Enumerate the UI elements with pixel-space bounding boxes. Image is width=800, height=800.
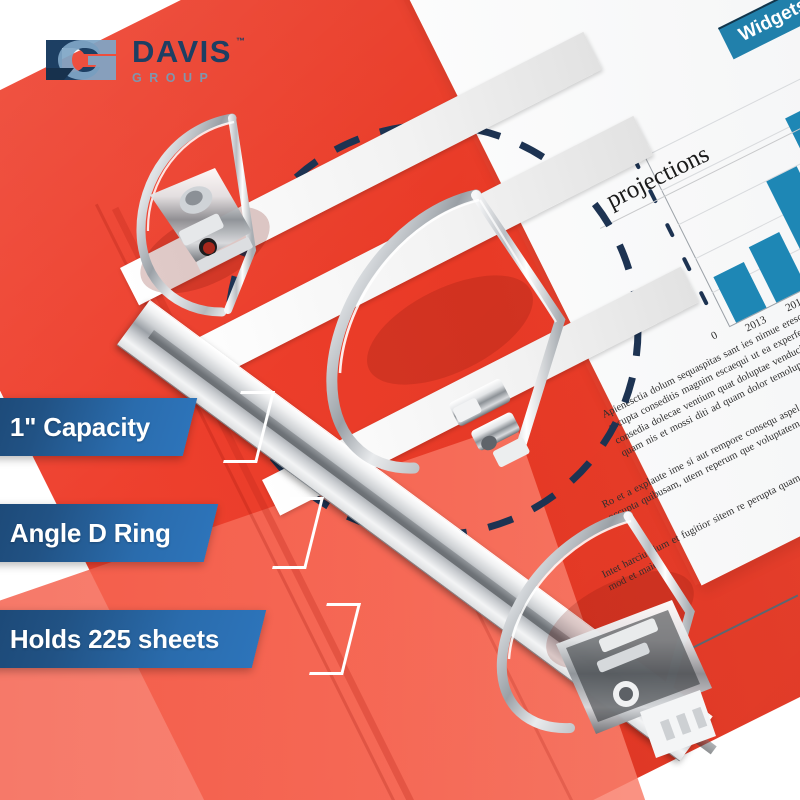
brand-wordmark: DAVIS™ GROUP [132,36,232,85]
feature-badge-label: Holds 225 sheets [10,624,219,655]
feature-badge-label: Angle D Ring [10,518,171,549]
dg-monogram-icon [44,34,118,86]
brand-logo: DAVIS™ GROUP [44,34,232,86]
chart-y-tick [665,223,675,238]
trademark-symbol: ™ [236,37,245,46]
feature-badge-sheet-capacity: Holds 225 sheets [0,610,266,668]
product-image-canvas: Widgets 20132014201520162017 0 projectio… [0,0,800,800]
feature-badge-ring-type: Angle D Ring [0,504,218,562]
brand-name-text: DAVIS [132,34,232,69]
chart-bar [713,262,766,323]
brand-name-secondary: GROUP [132,72,232,85]
feature-badge-capacity: 1" Capacity [0,398,197,456]
brand-name-primary: DAVIS™ [132,36,232,67]
chart-y-tick [699,291,709,306]
chart-origin-label: 0 [709,329,719,342]
feature-badge-label: 1" Capacity [10,412,150,443]
chart-y-tick [682,257,692,272]
